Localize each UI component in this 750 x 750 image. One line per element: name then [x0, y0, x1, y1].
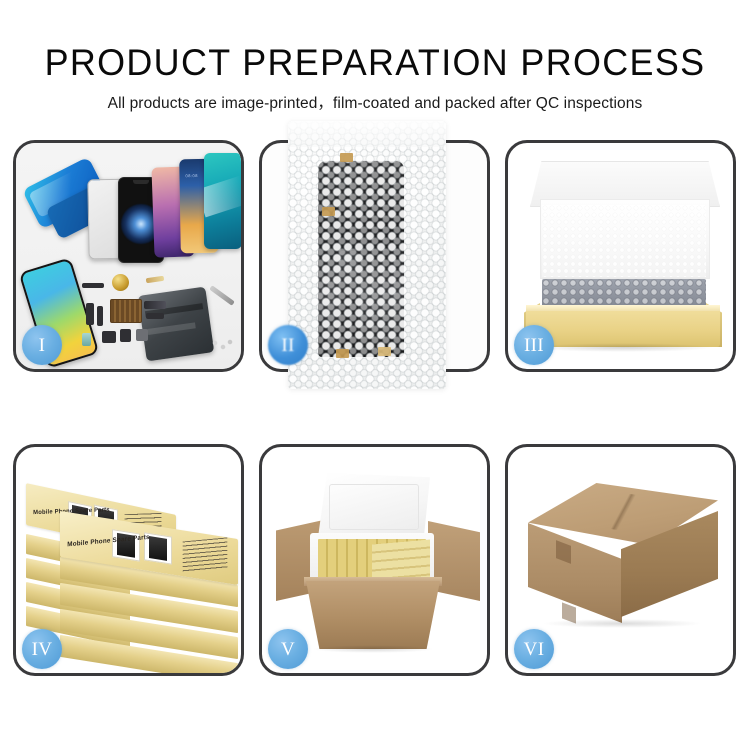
button-module-icon — [136, 329, 148, 341]
step-badge-label: VI — [524, 640, 545, 659]
page-title: PRODUCT PREPARATION PROCESS — [11, 0, 739, 84]
phone-back-housing-icon — [138, 287, 215, 362]
camera-module-icon — [102, 331, 116, 343]
process-step-grid: 08:08 — [13, 140, 737, 676]
step-badge-label: I — [39, 336, 46, 355]
flex-cable-icon — [86, 303, 94, 325]
step-badge-label: V — [281, 640, 295, 659]
step-badge-5: V — [268, 629, 308, 669]
process-step-panel-2[interactable]: II — [259, 140, 490, 372]
vibration-motor-icon — [112, 274, 129, 291]
page-header: PRODUCT PREPARATION PROCESS All products… — [0, 0, 750, 130]
cream-tray-icon — [526, 311, 720, 347]
carton-body-icon — [306, 581, 440, 649]
step-badge-3: III — [514, 325, 554, 365]
sim-tray-icon — [82, 333, 91, 346]
tape-seal-icon — [340, 153, 353, 162]
bubble-bag-graphic — [288, 121, 446, 389]
screws-icon — [212, 339, 234, 351]
flex-cable-icon — [144, 301, 166, 309]
step-badge-label: III — [524, 336, 544, 355]
tape-seal-icon — [336, 349, 349, 358]
process-step-panel-1[interactable]: 08:08 — [13, 140, 244, 372]
process-step-panel-3[interactable]: III — [505, 140, 736, 372]
step-badge-1: I — [22, 325, 62, 365]
process-step-panel-4[interactable]: Mobile Phone Spare Parts Mobile Phone Sp… — [13, 444, 244, 676]
process-step-panel-6[interactable]: VI — [505, 444, 736, 676]
step-badge-label: IV — [32, 640, 53, 659]
white-foam-icon — [542, 205, 706, 277]
step-badge-4: IV — [22, 629, 62, 669]
step-badge-6: VI — [514, 629, 554, 669]
process-step-panel-5[interactable]: V — [259, 444, 490, 676]
flex-cable-icon — [146, 313, 164, 319]
flex-cable-icon — [82, 283, 104, 288]
chip-array-icon — [110, 299, 142, 323]
flex-cable-icon — [97, 306, 103, 326]
step-badge-label: II — [281, 336, 294, 355]
step-badge-2: II — [268, 325, 308, 365]
page-subtitle: All products are image-printed，film-coat… — [0, 84, 750, 113]
tape-seal-icon — [378, 347, 391, 356]
teal-phone-icon — [204, 153, 241, 249]
tape-seal-icon — [322, 207, 335, 216]
speaker-module-icon — [120, 329, 131, 342]
